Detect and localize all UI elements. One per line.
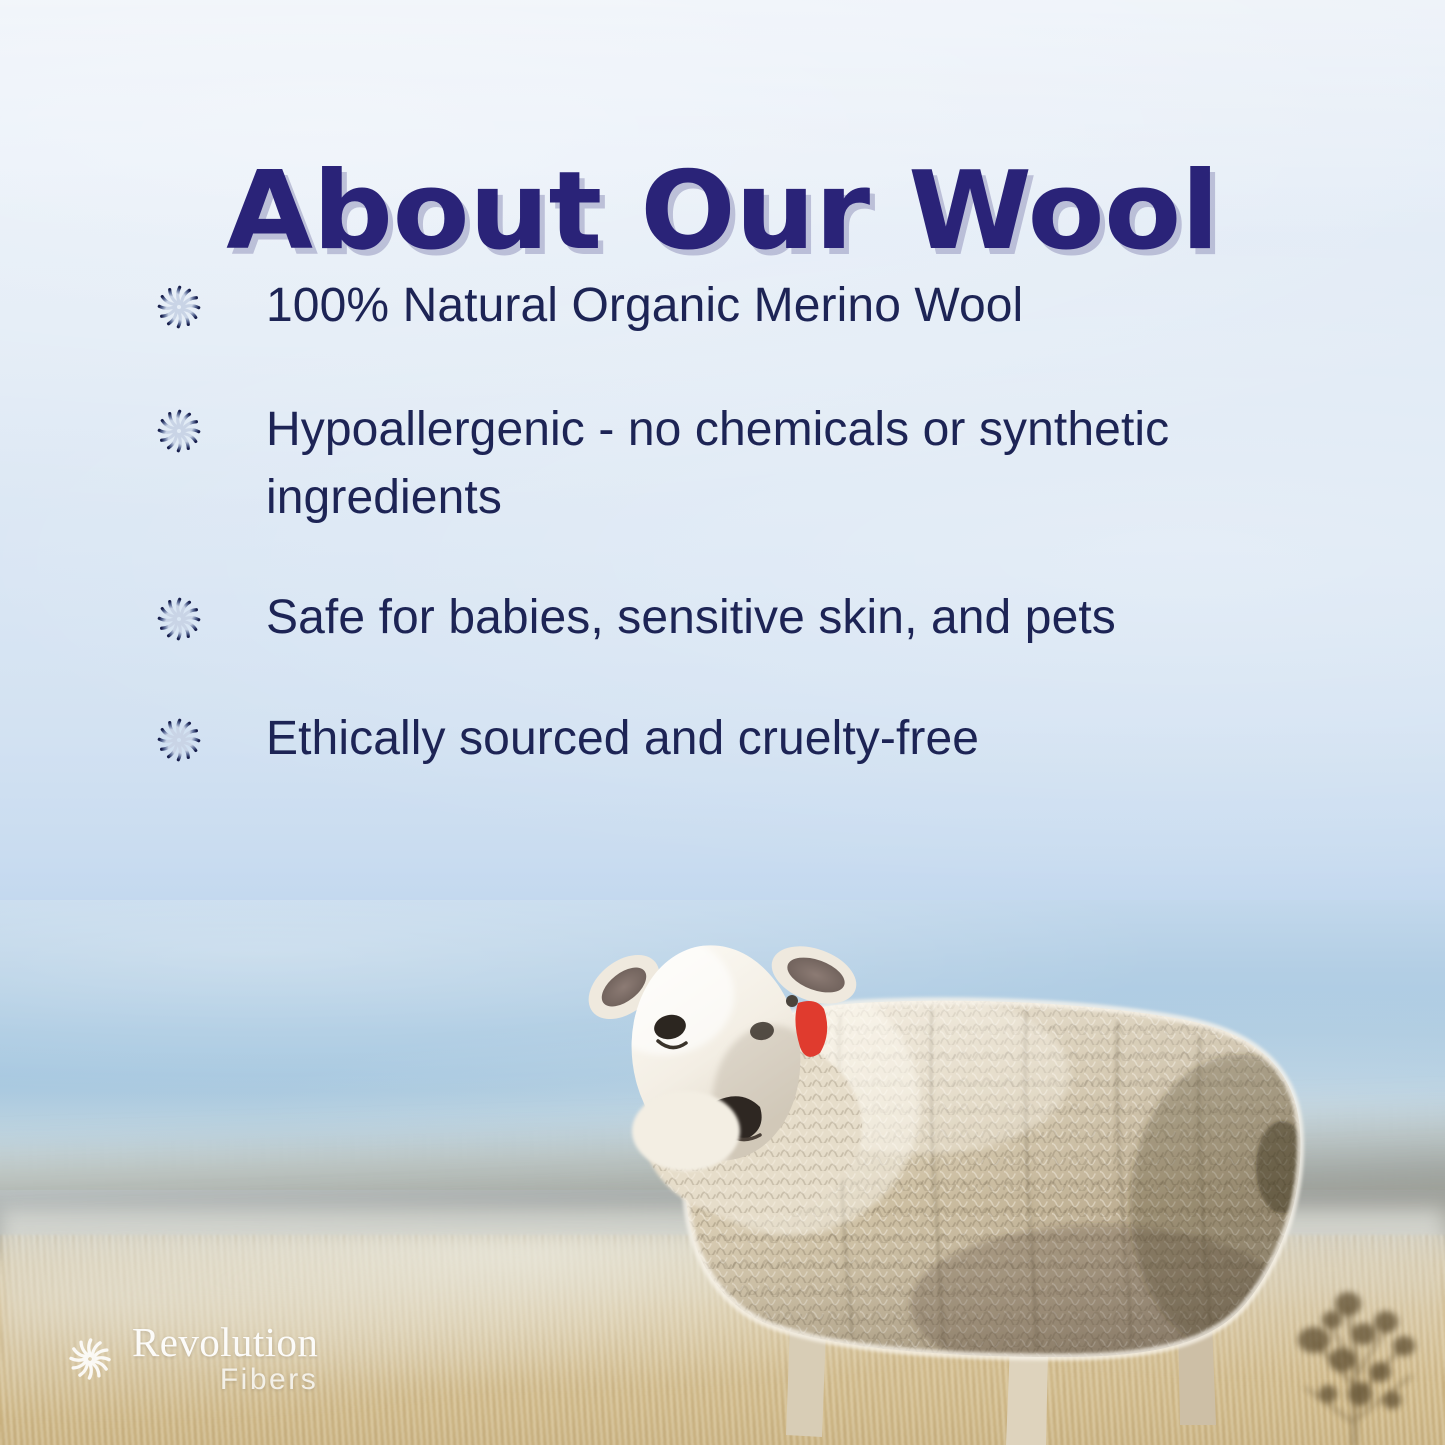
fiber-swirl-icon: [150, 278, 208, 336]
fiber-swirl-icon: [62, 1331, 118, 1387]
list-item-label: Safe for babies, sensitive skin, and pet…: [266, 584, 1310, 652]
fiber-swirl-icon: [150, 711, 208, 769]
list-item: 100% Natural Organic Merino Wool: [150, 272, 1310, 340]
list-item: Ethically sourced and cruelty-free: [150, 705, 1310, 773]
list-item-label: Ethically sourced and cruelty-free: [266, 705, 1310, 773]
fiber-swirl-icon: [150, 590, 208, 648]
list-item: Safe for babies, sensitive skin, and pet…: [150, 584, 1310, 652]
list-item-label: 100% Natural Organic Merino Wool: [266, 272, 1310, 340]
fiber-swirl-icon: [150, 402, 208, 460]
list-item: Hypoallergenic - no chemicals or synthet…: [150, 396, 1310, 532]
brand-logo: Revolution Fibers: [62, 1322, 318, 1395]
feature-list: 100% Natural Organic Merino Wool: [150, 272, 1310, 773]
sheep-photo: [540, 905, 1330, 1445]
logo-brand-name: Revolution: [132, 1322, 318, 1363]
page-title: About Our Wool: [0, 158, 1445, 266]
product-infographic: About Our Wool: [0, 0, 1445, 1445]
logo-brand-subtitle: Fibers: [132, 1365, 318, 1395]
logo-wordmark: Revolution Fibers: [132, 1322, 318, 1395]
list-item-label: Hypoallergenic - no chemicals or synthet…: [266, 396, 1310, 532]
